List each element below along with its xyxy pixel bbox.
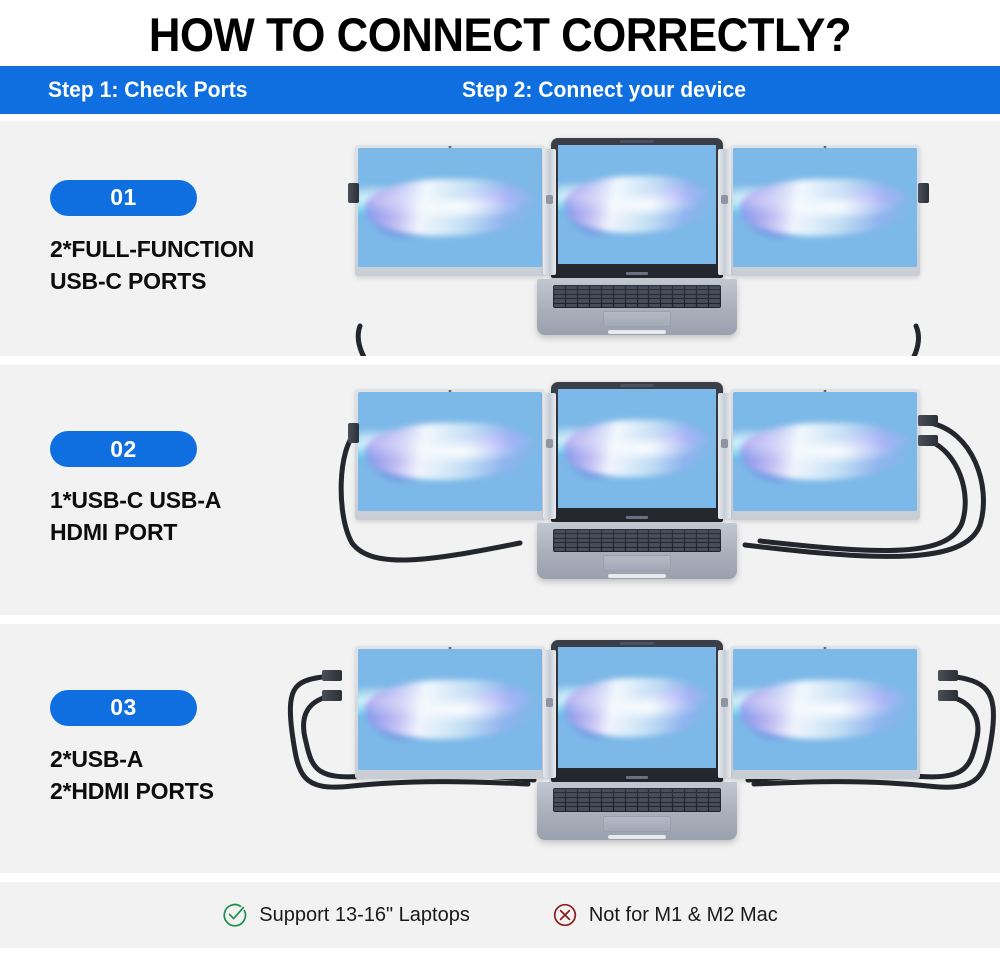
trackpad — [603, 311, 671, 327]
keyboard — [553, 788, 721, 812]
hdmi-plug-right-lower — [938, 690, 958, 701]
base-latch-notch — [608, 574, 666, 578]
brand-logo — [626, 272, 648, 275]
laptop-screen — [558, 389, 716, 508]
port-option-row: 03 2*USB-A 2*HDMI PORTS — [0, 624, 1000, 873]
port-description: 1*USB-C USB-A HDMI PORT — [50, 485, 340, 548]
port-option-row: 01 2*FULL-FUNCTION USB-C PORTS — [0, 121, 1000, 356]
laptop — [551, 640, 723, 782]
keyboard — [553, 529, 721, 553]
laptop-lid — [551, 382, 723, 522]
step-badge: 03 — [50, 690, 197, 726]
step-2-label: Step 2: Connect your device — [462, 77, 746, 103]
row-info: 03 2*USB-A 2*HDMI PORTS — [50, 624, 340, 873]
webcam — [620, 140, 654, 143]
left-monitor-panel — [358, 148, 542, 267]
left-monitor — [355, 145, 545, 276]
right-monitor — [730, 646, 920, 779]
wallpaper — [558, 145, 716, 264]
wallpaper — [733, 392, 917, 511]
port-description: 2*USB-A 2*HDMI PORTS — [50, 744, 340, 807]
usb-a-plug-right-upper — [938, 670, 958, 681]
left-monitor-panel — [358, 392, 542, 511]
right-hinge — [718, 650, 731, 778]
bezel-camera-dot — [824, 647, 827, 649]
wallpaper — [558, 389, 716, 508]
trackpad — [603, 816, 671, 832]
wallpaper — [558, 647, 716, 768]
left-monitor — [355, 646, 545, 779]
steps-header-bar: Step 1: Check Ports Step 2: Connect your… — [0, 66, 1000, 114]
wallpaper — [358, 649, 542, 770]
right-hinge — [718, 393, 731, 519]
wallpaper — [358, 392, 542, 511]
laptop — [551, 138, 723, 278]
trackpad — [603, 555, 671, 571]
row-info: 01 2*FULL-FUNCTION USB-C PORTS — [50, 121, 340, 356]
left-hinge — [543, 149, 556, 275]
right-monitor — [730, 145, 920, 276]
usb-c-plug-left — [348, 183, 359, 203]
brand-logo — [626, 776, 648, 779]
base-latch-notch — [608, 835, 666, 839]
right-monitor-panel — [733, 392, 917, 511]
laptop-base — [537, 523, 737, 579]
wallpaper — [733, 148, 917, 267]
usb-a-plug-right-lower — [918, 435, 938, 446]
usb-c-plug-left — [348, 423, 359, 443]
port-option-row: 02 1*USB-C USB-A HDMI PORT — [0, 365, 1000, 615]
support-label: Support 13-16" Laptops — [259, 904, 470, 927]
circle-x-icon — [552, 902, 578, 928]
step-badge: 01 — [50, 180, 197, 216]
step-1-label: Step 1: Check Ports — [48, 77, 248, 103]
step-badge: 02 — [50, 431, 197, 467]
row-info: 02 1*USB-C USB-A HDMI PORT — [50, 365, 340, 615]
support-note: Support 13-16" Laptops — [222, 902, 470, 928]
laptop-screen — [558, 647, 716, 768]
laptop-lid — [551, 640, 723, 782]
bezel-camera-dot — [449, 647, 452, 649]
webcam — [620, 384, 654, 387]
base-latch-notch — [608, 330, 666, 334]
page-title: HOW TO CONNECT CORRECTLY? — [35, 0, 965, 66]
laptop-screen — [558, 145, 716, 264]
hdmi-plug-right-upper — [918, 415, 938, 426]
not-support-label: Not for M1 & M2 Mac — [589, 904, 778, 927]
not-support-note: Not for M1 & M2 Mac — [552, 902, 778, 928]
steps-rows: 01 2*FULL-FUNCTION USB-C PORTS — [0, 114, 1000, 873]
right-monitor-panel — [733, 148, 917, 267]
left-hinge — [543, 393, 556, 519]
wallpaper — [733, 649, 917, 770]
bezel-camera-dot — [824, 390, 827, 392]
laptop-base — [537, 279, 737, 335]
left-hinge — [543, 650, 556, 778]
compatibility-footer: Support 13-16" Laptops Not for M1 & M2 M… — [0, 882, 1000, 948]
webcam — [620, 642, 654, 645]
keyboard — [553, 285, 721, 309]
left-monitor — [355, 389, 545, 520]
bezel-camera-dot — [824, 146, 827, 148]
usb-c-plug-right — [918, 183, 929, 203]
brand-logo — [626, 516, 648, 519]
left-monitor-panel — [358, 649, 542, 770]
right-monitor — [730, 389, 920, 520]
laptop-base — [537, 782, 737, 840]
bezel-camera-dot — [449, 390, 452, 392]
laptop-lid — [551, 138, 723, 278]
right-monitor-panel — [733, 649, 917, 770]
laptop — [551, 382, 723, 522]
circle-check-icon — [222, 902, 248, 928]
bezel-camera-dot — [449, 146, 452, 148]
right-hinge — [718, 149, 731, 275]
port-description: 2*FULL-FUNCTION USB-C PORTS — [50, 234, 340, 297]
wallpaper — [358, 148, 542, 267]
